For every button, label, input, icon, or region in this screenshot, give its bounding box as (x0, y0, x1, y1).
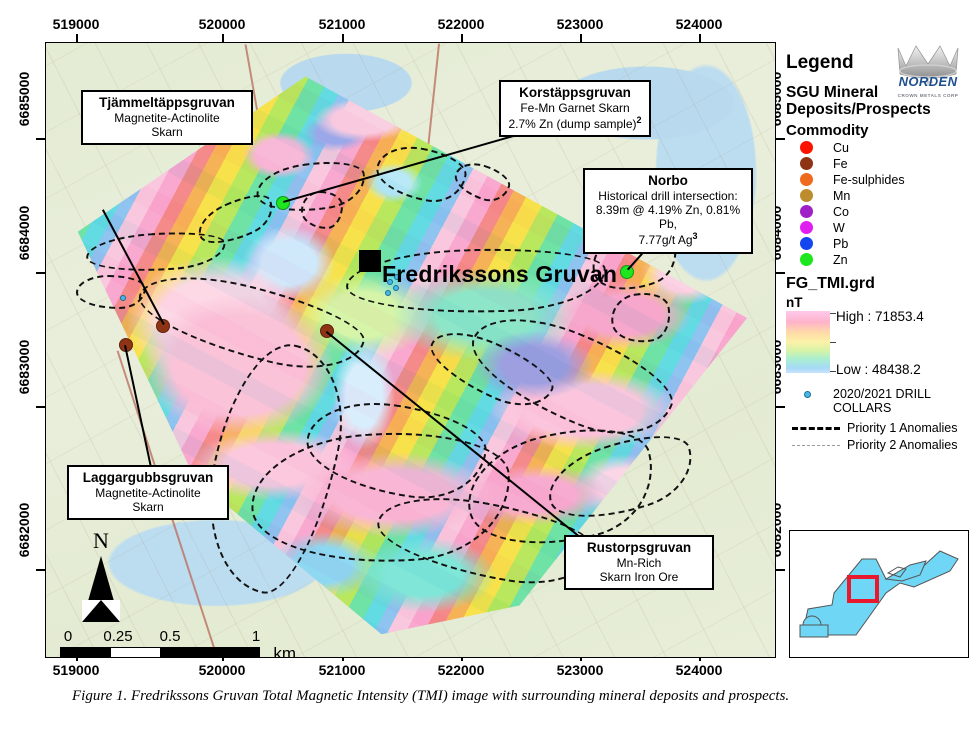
drill-collar-marker[interactable] (120, 295, 126, 301)
legend-item-fe-sulphides[interactable]: Fe-sulphides (800, 173, 971, 187)
callout-line: Skarn (76, 500, 220, 514)
scale-tick-1: 0.25 (103, 628, 132, 645)
priority2-dash-swatch (792, 445, 840, 446)
callout-korstappsgruvan[interactable]: Korstäppsgruvan Fe-Mn Garnet Skarn 2.7% … (499, 80, 651, 137)
inset-region-shapes (790, 531, 968, 657)
y-tick-right-3 (776, 569, 785, 571)
callout-tjammeltappsgruvan[interactable]: Tjämmeltäppsgruvan Magnetite-Actinolite … (81, 90, 253, 145)
legend-item-mn[interactable]: Mn (800, 189, 971, 203)
priority2-label: Priority 2 Anomalies (847, 438, 957, 452)
north-arrow-letter: N (71, 528, 131, 554)
callout-line: 2.7% Zn (dump sample)2 (508, 115, 642, 131)
x-tick-label-bottom-5: 524000 (676, 662, 723, 678)
commodity-swatch-fe-sulphides (800, 173, 813, 186)
x-tick-label-bottom-4: 523000 (557, 662, 604, 678)
callout-line: Skarn (90, 125, 244, 139)
commodity-label: Fe-sulphides (833, 173, 905, 187)
callout-line: Historical drill intersection: (592, 189, 744, 203)
x-tick-label-top-3: 522000 (438, 16, 485, 32)
priority1-anomaly (301, 191, 343, 229)
commodity-swatch-mn (800, 189, 813, 202)
callout-line: 8.39m @ 4.19% Zn, 0.81% Pb, (592, 203, 744, 231)
callout-title: Rustorpsgruvan (573, 540, 705, 556)
map-canvas[interactable]: Fredrikssons Gruvan N 0 0.25 0.5 1 (45, 42, 776, 658)
x-tick-label-bottom-0: 519000 (53, 662, 100, 678)
ramp-tick-mid (830, 342, 836, 343)
logo-brand-text: NORDEN (886, 74, 970, 89)
callout-line: Magnetite-Actinolite (90, 111, 244, 125)
scale-segment (160, 648, 259, 658)
x-tick-label-top-1: 520000 (199, 16, 246, 32)
commodity-label: Fe (833, 157, 848, 171)
legend-item-fe[interactable]: Fe (800, 157, 971, 171)
color-ramp-group: High : 71853.4 Low : 48438.2 (786, 311, 971, 373)
north-arrow: N (71, 528, 131, 622)
callout-title: Norbo (592, 173, 744, 189)
commodity-label: W (833, 221, 845, 235)
scale-bar-labels: 0 0.25 0.5 1 (60, 628, 260, 647)
x-tick-label-bottom-2: 521000 (319, 662, 366, 678)
scale-bar-unit: km (273, 644, 296, 658)
callout-superscript: 2 (637, 115, 642, 125)
legend-panel: Legend SGU Mineral Deposits/Prospects Co… (786, 52, 971, 455)
x-tick-label-top-5: 524000 (676, 16, 723, 32)
commodity-swatch-w (800, 221, 813, 234)
callout-line: Magnetite-Actinolite (76, 486, 220, 500)
scale-tick-2: 0.5 (160, 628, 181, 645)
y-tick-right-0 (776, 138, 785, 140)
color-ramp-swatch (786, 311, 830, 373)
scale-tick-0: 0 (64, 628, 72, 645)
commodity-swatch-co (800, 205, 813, 218)
commodity-swatch-pb (800, 237, 813, 250)
callout-norbo[interactable]: Norbo Historical drill intersection: 8.3… (583, 168, 753, 254)
commodity-label: Mn (833, 189, 850, 203)
x-tick-label-top-2: 521000 (319, 16, 366, 32)
legend-item-priority1[interactable]: Priority 1 Anomalies (792, 421, 971, 435)
fredrikssons-gruvan-marker[interactable] (359, 250, 381, 272)
legend-item-priority2[interactable]: Priority 2 Anomalies (792, 438, 971, 452)
callout-laggargubbsgruvan[interactable]: Laggargubbsgruvan Magnetite-Actinolite S… (67, 465, 229, 520)
legend-item-zn[interactable]: Zn (800, 253, 971, 267)
callout-line: Mn-Rich (573, 556, 705, 570)
commodity-label: Co (833, 205, 849, 219)
callout-line: Fe-Mn Garnet Skarn (508, 101, 642, 115)
callout-line: 7.77g/t Ag3 (592, 231, 744, 247)
callout-line: Skarn Iron Ore (573, 570, 705, 584)
y-tick-label-left-0: 6685000 (16, 59, 32, 139)
figure-caption: Figure 1. Fredrikssons Gruvan Total Magn… (72, 685, 902, 708)
y-tick-right-2 (776, 406, 785, 408)
x-tick-label-top-0: 519000 (53, 16, 100, 32)
commodity-swatch-cu (800, 141, 813, 154)
x-tick-label-top-4: 523000 (557, 16, 604, 32)
commodity-label: Cu (833, 141, 849, 155)
scale-segment (61, 648, 111, 658)
legend-item-pb[interactable]: Pb (800, 237, 971, 251)
commodity-swatch-zn (800, 253, 813, 266)
deposit-marker-korstappsgruvan[interactable] (276, 196, 290, 210)
drill-collar-label: 2020/2021 DRILL COLLARS (833, 387, 971, 416)
priority1-dash-swatch (792, 427, 840, 430)
callout-superscript: 3 (693, 231, 698, 241)
y-tick-left-2 (36, 406, 45, 408)
callout-title: Laggargubbsgruvan (76, 470, 220, 486)
callout-rustorpsgruvan[interactable]: Rustorpsgruvan Mn-Rich Skarn Iron Ore (564, 535, 714, 590)
legend-item-co[interactable]: Co (800, 205, 971, 219)
ramp-low-label: Low : 48438.2 (836, 362, 921, 377)
figure-container: 519000 520000 521000 522000 523000 52400… (0, 0, 975, 746)
x-tick-label-bottom-1: 520000 (199, 662, 246, 678)
north-arrow-notch (82, 600, 120, 622)
legend-item-w[interactable]: W (800, 221, 971, 235)
raster-unit-label: nT (786, 295, 971, 310)
raster-layer-name: FG_TMI.grd (786, 275, 971, 293)
legend-item-cu[interactable]: Cu (800, 141, 971, 155)
y-tick-left-3 (36, 569, 45, 571)
callout-line-text: 2.7% Zn (dump sample) (508, 117, 636, 131)
ramp-high-label: High : 71853.4 (836, 309, 924, 324)
y-tick-label-left-1: 6684000 (16, 193, 32, 273)
callout-line-text: 7.77g/t Ag (638, 233, 692, 247)
y-tick-label-left-3: 6682000 (16, 490, 32, 570)
commodity-swatch-fe (800, 157, 813, 170)
callout-title: Korstäppsgruvan (508, 85, 642, 101)
color-ramp-labels: High : 71853.4 Low : 48438.2 (830, 311, 971, 373)
legend-commodity-title: Commodity (786, 122, 971, 139)
norden-logo: NORDEN CROWN METALS CORP (886, 40, 970, 102)
drill-collar-swatch (804, 391, 811, 398)
y-tick-right-1 (776, 272, 785, 274)
commodity-label: Pb (833, 237, 848, 251)
logo-subtitle-text: CROWN METALS CORP (886, 93, 970, 98)
commodity-label: Zn (833, 253, 848, 267)
drill-collar-marker[interactable] (385, 290, 391, 296)
legend-item-drill-collars[interactable]: 2020/2021 DRILL COLLARS (804, 387, 971, 416)
inset-location-map[interactable] (789, 530, 969, 658)
y-tick-left-0 (36, 138, 45, 140)
y-tick-label-left-2: 6683000 (16, 327, 32, 407)
scale-bar: 0 0.25 0.5 1 km (60, 628, 260, 658)
scale-bar-segments (60, 647, 260, 658)
fredrikssons-gruvan-label: Fredrikssons Gruvan (382, 261, 617, 288)
scale-tick-3: 1 (252, 628, 260, 645)
callout-title: Tjämmeltäppsgruvan (90, 95, 244, 111)
inset-highlight-box (847, 575, 879, 603)
y-tick-left-1 (36, 272, 45, 274)
priority1-label: Priority 1 Anomalies (847, 421, 957, 435)
scale-segment (111, 648, 161, 658)
x-tick-label-bottom-3: 522000 (438, 662, 485, 678)
